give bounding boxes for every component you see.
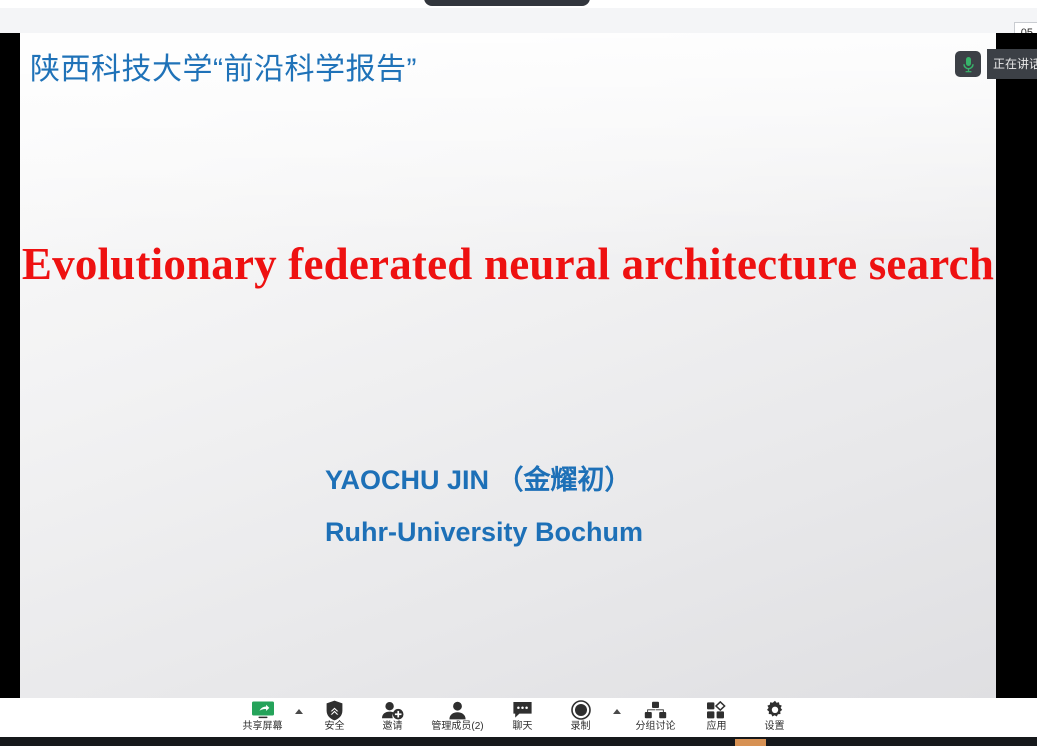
toolbar-label-security: 安全 xyxy=(325,720,345,734)
toolbar-label-chat: 聊天 xyxy=(513,720,533,734)
record-caret-icon[interactable] xyxy=(610,698,624,737)
toolbar-item-share-screen[interactable]: 共享屏幕 xyxy=(234,698,292,737)
share-screen-icon xyxy=(251,700,275,720)
toolbar-label-breakout-rooms: 分组讨论 xyxy=(636,720,676,734)
toolbar-label-record: 录制 xyxy=(571,720,591,734)
invite-person-icon xyxy=(381,700,405,720)
toolbar-label-participants: 管理成员(2) xyxy=(431,720,483,734)
chat-bubble-icon xyxy=(512,700,533,720)
toolbar-item-invite[interactable]: 邀请 xyxy=(364,698,422,737)
meeting-toolbar: 共享屏幕 安全 xyxy=(0,698,1037,737)
breakout-rooms-icon xyxy=(644,700,667,720)
chevron-up-icon xyxy=(613,709,621,714)
toolbar-label-invite: 邀请 xyxy=(383,720,403,734)
active-speaker-chip[interactable]: 正在讲话 xyxy=(955,49,1037,79)
slide-author-text: YAOCHU JIN （金耀初） xyxy=(325,458,632,497)
meeting-app-window: 会议主题: Yaochu Jin 报告 05 陕西科技大学“前沿科学报告” Ev… xyxy=(0,0,1037,746)
meeting-stage: 陕西科技大学“前沿科学报告” Evolutionary federated ne… xyxy=(0,33,1037,698)
participants-icon xyxy=(447,700,468,720)
active-speaker-label: 正在讲话 xyxy=(987,49,1037,79)
slide-header-text: 陕西科技大学“前沿科学报告” xyxy=(30,44,417,88)
toolbar-item-apps[interactable]: 应用 xyxy=(688,698,746,737)
window-chrome-strip: 05 xyxy=(0,8,1037,34)
slide-affiliation-text: Ruhr-University Bochum xyxy=(325,517,643,548)
toolbar-item-record[interactable]: 录制 xyxy=(552,698,610,737)
gear-icon xyxy=(765,700,785,720)
meeting-topic-pill[interactable]: 会议主题: Yaochu Jin 报告 xyxy=(424,0,590,6)
toolbar-item-security[interactable]: 安全 xyxy=(306,698,364,737)
toolbar-label-share-screen: 共享屏幕 xyxy=(243,720,283,734)
toolbar-item-settings[interactable]: 设置 xyxy=(746,698,804,737)
toolbar-item-breakout-rooms[interactable]: 分组讨论 xyxy=(624,698,688,737)
shared-slide: 陕西科技大学“前沿科学报告” Evolutionary federated ne… xyxy=(20,33,996,698)
chevron-up-icon xyxy=(295,709,303,714)
toolbar-label-settings: 设置 xyxy=(765,720,785,734)
microphone-icon[interactable] xyxy=(955,51,981,77)
apps-icon xyxy=(706,700,727,720)
share-screen-caret-icon[interactable] xyxy=(292,698,306,737)
record-circle-icon xyxy=(571,700,591,720)
bottom-orange-marker xyxy=(735,739,766,746)
toolbar-label-apps: 应用 xyxy=(707,720,727,734)
slide-title-text: Evolutionary federated neural architectu… xyxy=(20,238,996,290)
toolbar-item-chat[interactable]: 聊天 xyxy=(494,698,552,737)
shield-icon xyxy=(325,700,344,720)
bottom-dark-band xyxy=(0,737,1037,746)
toolbar-item-participants[interactable]: 管理成员(2) xyxy=(422,698,494,737)
